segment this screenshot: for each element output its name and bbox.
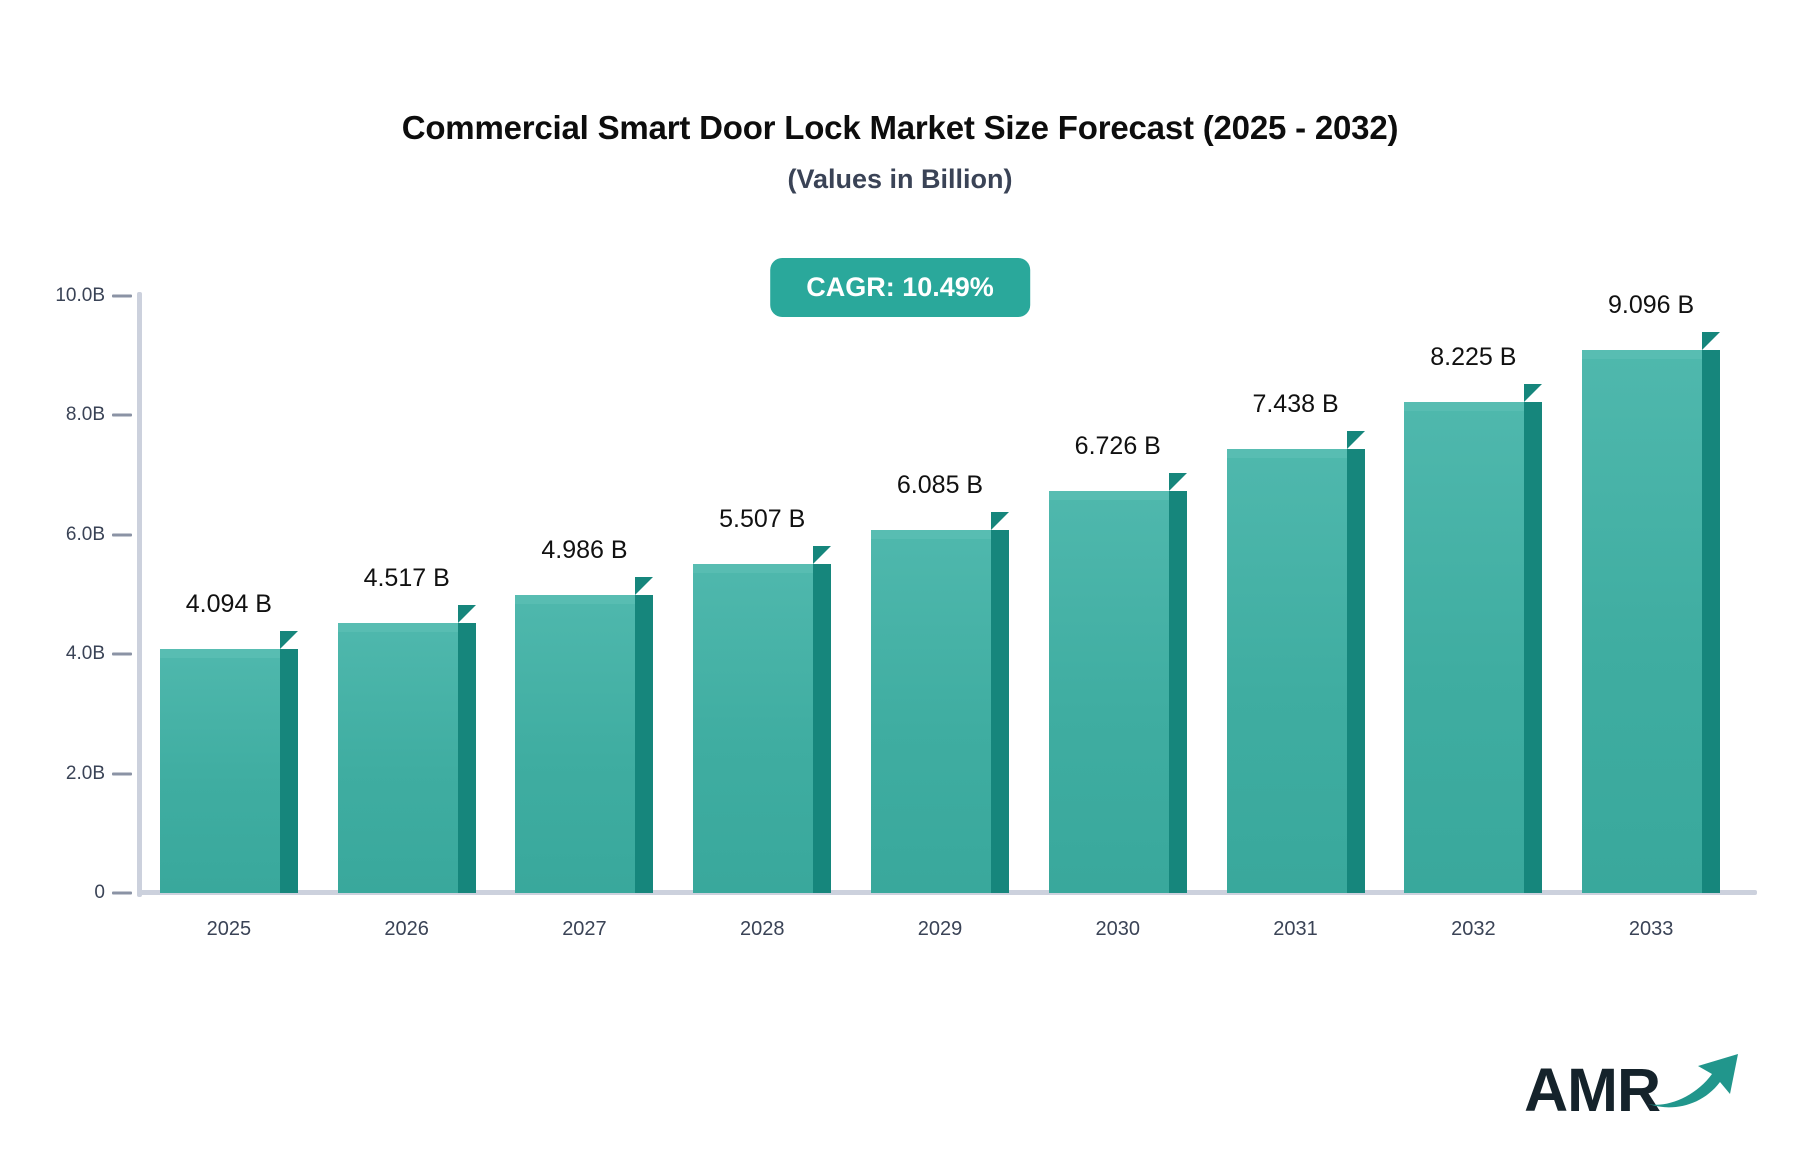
y-axis-tick-mark bbox=[112, 414, 132, 417]
bar-top-highlight bbox=[160, 649, 280, 658]
bar-side-face bbox=[991, 530, 1009, 893]
bar-value-label: 4.094 B bbox=[186, 590, 272, 619]
y-axis-tick-mark bbox=[112, 653, 132, 656]
bars-container: 4.094 B4.517 B4.986 B5.507 B6.085 B6.726… bbox=[140, 296, 1740, 893]
bar-top-bevel bbox=[1524, 384, 1542, 402]
y-axis-tick-label: 4.0B bbox=[10, 643, 105, 665]
bar-value-label: 8.225 B bbox=[1430, 343, 1516, 372]
bar-top-bevel bbox=[1169, 473, 1187, 491]
bar-side-face bbox=[1169, 491, 1187, 893]
bar-top-bevel bbox=[1347, 431, 1365, 449]
bar-side-face bbox=[1702, 350, 1720, 893]
bar-value-label: 7.438 B bbox=[1252, 390, 1338, 419]
bar-2029[interactable]: 6.085 B bbox=[871, 512, 1009, 893]
x-axis-tick-label: 2028 bbox=[740, 918, 785, 941]
bar-2025[interactable]: 4.094 B bbox=[160, 631, 298, 893]
title-block: Commercial Smart Door Lock Market Size F… bbox=[0, 108, 1800, 195]
y-axis-tick-mark bbox=[112, 772, 132, 775]
bar-value-label: 6.726 B bbox=[1075, 432, 1161, 461]
chart-canvas: Commercial Smart Door Lock Market Size F… bbox=[0, 0, 1800, 1156]
bar-value-label: 4.517 B bbox=[364, 564, 450, 593]
bar-top-highlight bbox=[1404, 402, 1524, 411]
bar-top-bevel bbox=[813, 546, 831, 564]
x-axis-tick-label: 2032 bbox=[1451, 918, 1496, 941]
bar-top-highlight bbox=[871, 530, 991, 539]
bar-side-face bbox=[1524, 402, 1542, 893]
bar-front-face bbox=[1404, 402, 1524, 893]
bar-front-face bbox=[515, 595, 635, 893]
bar-front-face bbox=[693, 564, 813, 893]
y-axis-tick-label: 10.0B bbox=[10, 285, 105, 307]
bar-side-face bbox=[635, 595, 653, 893]
y-axis-tick-label: 6.0B bbox=[10, 524, 105, 546]
y-axis-tick-label: 2.0B bbox=[10, 763, 105, 785]
bar-front-face bbox=[1227, 449, 1347, 893]
bar-top-highlight bbox=[693, 564, 813, 573]
x-axis-tick-label: 2025 bbox=[207, 918, 252, 941]
bar-front-face bbox=[1582, 350, 1702, 893]
amr-logo: AMR bbox=[1524, 1048, 1742, 1121]
page-title: Commercial Smart Door Lock Market Size F… bbox=[0, 108, 1800, 148]
bar-top-highlight bbox=[1227, 449, 1347, 458]
y-axis-tick-mark bbox=[112, 892, 132, 895]
bar-side-face bbox=[280, 649, 298, 893]
bar-top-highlight bbox=[338, 623, 458, 632]
bar-top-highlight bbox=[1049, 491, 1169, 500]
bar-front-face bbox=[160, 649, 280, 893]
y-axis-tick-label: 8.0B bbox=[10, 404, 105, 426]
bar-front-face bbox=[338, 623, 458, 893]
y-axis-tick-label: 0 bbox=[10, 882, 105, 904]
bar-value-label: 9.096 B bbox=[1608, 291, 1694, 320]
logo-text: AMR bbox=[1524, 1060, 1660, 1121]
bar-value-label: 4.986 B bbox=[541, 536, 627, 565]
bar-value-label: 6.085 B bbox=[897, 471, 983, 500]
x-axis-tick-label: 2027 bbox=[562, 918, 607, 941]
growth-arrow-icon bbox=[1646, 1048, 1742, 1115]
x-axis-tick-label: 2031 bbox=[1273, 918, 1318, 941]
y-axis-tick-mark bbox=[112, 295, 132, 298]
bar-2030[interactable]: 6.726 B bbox=[1049, 473, 1187, 893]
y-axis-tick-mark bbox=[112, 533, 132, 536]
bar-top-bevel bbox=[280, 631, 298, 649]
bar-top-bevel bbox=[991, 512, 1009, 530]
bar-2033[interactable]: 9.096 B bbox=[1582, 332, 1720, 893]
bar-2028[interactable]: 5.507 B bbox=[693, 546, 831, 893]
bar-2031[interactable]: 7.438 B bbox=[1227, 431, 1365, 893]
bar-top-highlight bbox=[515, 595, 635, 604]
bar-2027[interactable]: 4.986 B bbox=[515, 577, 653, 893]
bar-2026[interactable]: 4.517 B bbox=[338, 605, 476, 893]
bar-side-face bbox=[1347, 449, 1365, 893]
bar-top-highlight bbox=[1582, 350, 1702, 359]
bar-value-label: 5.507 B bbox=[719, 505, 805, 534]
chart-subtitle: (Values in Billion) bbox=[0, 164, 1800, 195]
bar-side-face bbox=[813, 564, 831, 893]
x-axis-tick-label: 2029 bbox=[918, 918, 963, 941]
bar-top-bevel bbox=[1702, 332, 1720, 350]
bar-front-face bbox=[1049, 491, 1169, 893]
bar-2032[interactable]: 8.225 B bbox=[1404, 384, 1542, 893]
bar-front-face bbox=[871, 530, 991, 893]
bar-top-bevel bbox=[635, 577, 653, 595]
bar-top-bevel bbox=[458, 605, 476, 623]
x-axis-tick-label: 2030 bbox=[1096, 918, 1141, 941]
bar-side-face bbox=[458, 623, 476, 893]
x-axis-tick-label: 2033 bbox=[1629, 918, 1674, 941]
x-axis-tick-label: 2026 bbox=[384, 918, 429, 941]
